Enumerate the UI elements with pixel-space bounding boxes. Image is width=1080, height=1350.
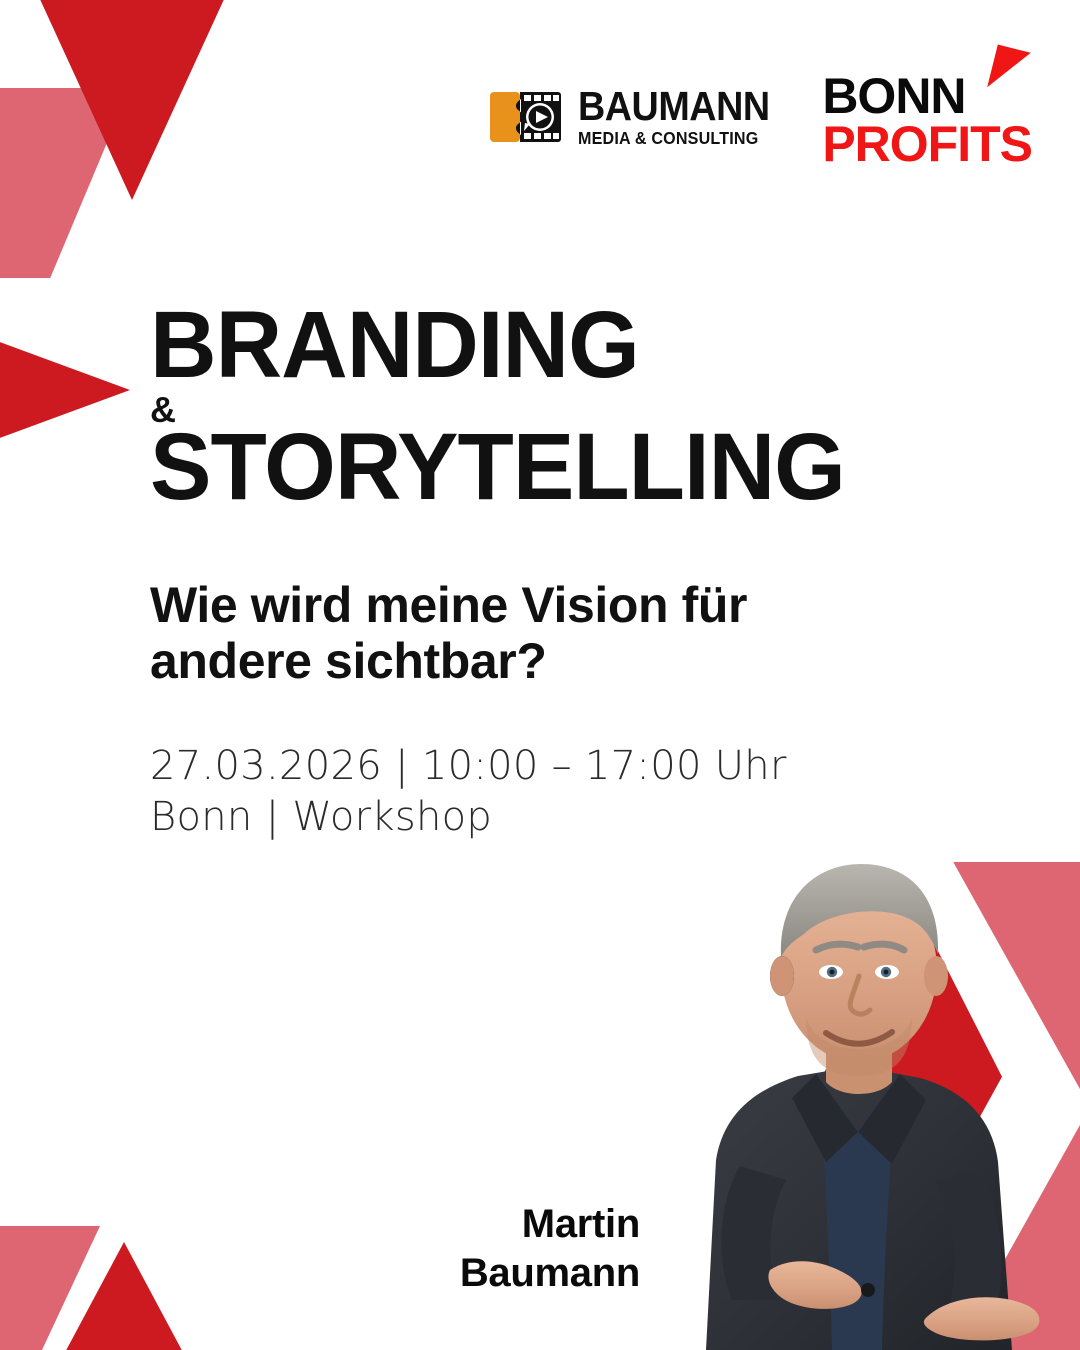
speaker-first-name: Martin (330, 1200, 640, 1249)
top-left-red-triangle (22, 0, 242, 200)
event-poster: BAUMANN MEDIA & CONSULTING BONN PROFITS … (0, 0, 1080, 1350)
subheadline: Wie wird meine Vision für andere sichtba… (150, 577, 870, 689)
speaker-portrait (620, 830, 1080, 1350)
headline-line-2: STORYTELLING (150, 422, 887, 512)
bottom-left-red-triangle (62, 1242, 186, 1350)
film-strip-play-face-icon (490, 86, 568, 148)
baumann-logo-tagline: MEDIA & CONSULTING (578, 130, 770, 148)
logo-row: BAUMANN MEDIA & CONSULTING BONN PROFITS (490, 72, 1032, 168)
event-details: 27.03.2026 | 10:00 – 17:00 Uhr Bonn | Wo… (150, 741, 910, 843)
baumann-logo-name: BAUMANN (578, 86, 770, 127)
headline-line-1: BRANDING (150, 300, 887, 390)
baumann-media-logo: BAUMANN MEDIA & CONSULTING (490, 86, 786, 148)
speaker-name: Martin Baumann (330, 1200, 640, 1298)
poster-text-block: BRANDING & STORYTELLING Wie wird meine V… (150, 300, 910, 843)
left-red-arrow-triangle (0, 320, 130, 460)
speaker-last-name: Baumann (330, 1249, 640, 1298)
event-datetime: 27.03.2026 | 10:00 – 17:00 Uhr (150, 741, 910, 792)
bonn-logo-line2: PROFITS (822, 120, 1032, 168)
bonn-profits-logo: BONN PROFITS (822, 72, 1032, 168)
